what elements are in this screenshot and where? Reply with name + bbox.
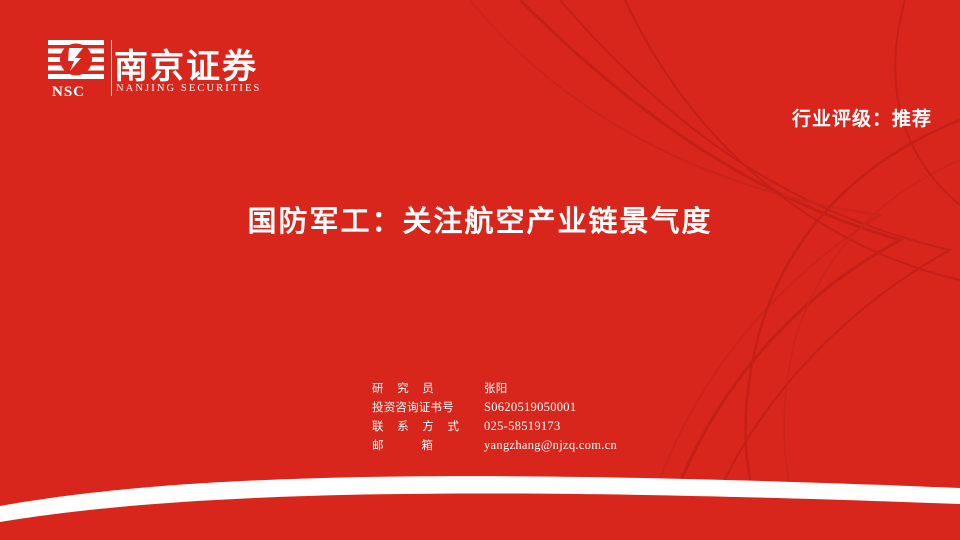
meta-value-license: S0620519050001 <box>484 400 576 415</box>
meta-label-email: 邮 箱 <box>372 437 484 453</box>
meta-row: 投资咨询证书号 S0620519050001 <box>372 399 617 418</box>
meta-value-email: yangzhang@njzq.com.cn <box>484 438 617 453</box>
meta-label-contact: 联 系 方 式 <box>372 418 484 434</box>
analyst-info-block: 研 究 员 张阳 投资咨询证书号 S0620519050001 联 系 方 式 … <box>372 380 617 456</box>
company-logo: NSC 南京证券 NANJING SECURITIES <box>48 38 278 98</box>
meta-label-license: 投资咨询证书号 <box>372 399 484 415</box>
industry-rating: 行业评级：推荐 <box>792 104 932 131</box>
meta-label-researcher: 研 究 员 <box>372 380 484 396</box>
meta-row: 研 究 员 张阳 <box>372 380 617 399</box>
logo-chinese-name: 南京证券 <box>114 39 258 88</box>
logo-divider <box>111 40 112 96</box>
logo-english-name: NANJING SECURITIES <box>116 83 261 94</box>
meta-row: 邮 箱 yangzhang@njzq.com.cn <box>372 437 617 456</box>
logo-abbr: NSC <box>52 84 85 101</box>
page-title: 国防军工：关注航空产业链景气度 <box>0 198 960 240</box>
logo-emblem-icon <box>48 38 106 82</box>
meta-row: 联 系 方 式 025-58519173 <box>372 418 617 437</box>
meta-value-contact: 025-58519173 <box>484 419 561 434</box>
title-slide: NSC 南京证券 NANJING SECURITIES 行业评级：推荐 国防军工… <box>0 0 960 540</box>
bottom-wedge-decoration <box>0 470 960 540</box>
meta-value-researcher: 张阳 <box>484 380 508 396</box>
